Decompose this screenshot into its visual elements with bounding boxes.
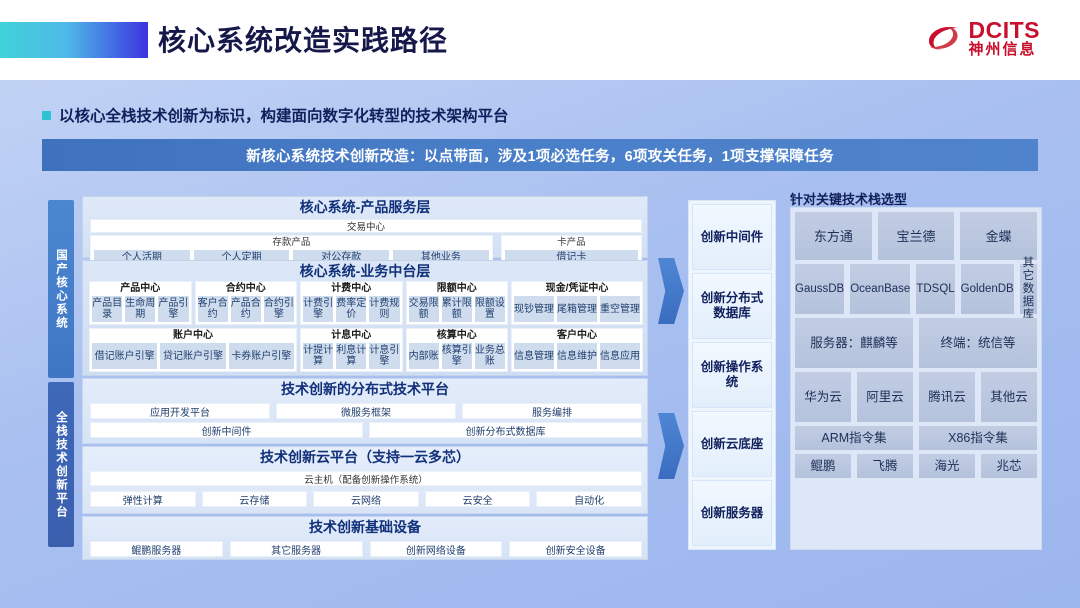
center-title: 计费中心 <box>303 283 400 295</box>
center-item[interactable]: 借记账户引擎 <box>92 343 157 369</box>
center-item[interactable]: 限额设置 <box>475 296 505 322</box>
summary-banner: 新核心系统技术创新改造：以点带面，涉及1项必选任务，6项攻关任务，1项支撑保障任… <box>42 139 1038 171</box>
tech-stack-selection-panel: 东方通 宝兰德 金蝶 GaussDB OceanBase TDSQL Golde… <box>790 207 1042 550</box>
bullet-square-icon <box>42 111 51 120</box>
vertical-label-fullstack-platform: 全栈技术创新平台 <box>48 382 74 547</box>
distributed-tech-platform-title: 技术创新的分布式技术平台 <box>83 379 647 399</box>
center-item[interactable]: 客户合约 <box>198 296 228 322</box>
distributed-tech-platform: 技术创新的分布式技术平台 应用开发平台 微服务框架 服务编排 创新中间件 创新分… <box>82 378 648 444</box>
tech-band-database: GaussDB OceanBase TDSQL GoldenDB 其它数据库 <box>795 264 1037 314</box>
vendor-cell[interactable]: OceanBase <box>850 264 910 314</box>
cloud-item[interactable]: 弹性计算 <box>90 491 196 507</box>
innovation-item-distributed-database[interactable]: 创新分布式数据库 <box>692 273 772 339</box>
page-header: 核心系统改造实践路径 DCITS 神州信息 <box>0 0 1080 80</box>
center-item[interactable]: 信息维护 <box>557 343 597 369</box>
cloud-item[interactable]: 云网络 <box>313 491 419 507</box>
infrastructure-title: 技术创新基础设备 <box>83 517 647 537</box>
vendor-cell[interactable]: 华为云 <box>795 372 851 422</box>
center-card-accounting: 核算中心 内部账 核算引擎 业务总账 <box>406 328 509 372</box>
center-item[interactable]: 产品引擎 <box>158 296 188 322</box>
vendor-cell[interactable]: 东方通 <box>795 212 872 260</box>
vendor-cell[interactable]: GoldenDB <box>961 264 1014 314</box>
center-card-billing: 计费中心 计费引擎 费率定价 计费规则 <box>300 281 403 325</box>
cloud-item[interactable]: 云存储 <box>202 491 308 507</box>
vendor-cell[interactable]: 宝兰德 <box>878 212 955 260</box>
center-title: 客户中心 <box>514 330 640 342</box>
architecture-left-panel: 国产核心系统 全栈技术创新平台 核心系统-产品服务层 交易中心 存款产品 个人活… <box>48 196 648 551</box>
tech-band-cloud: 华为云 阿里云 腾讯云 其他云 <box>795 372 1037 422</box>
infra-item[interactable]: 创新网络设备 <box>370 541 503 557</box>
dtp-item[interactable]: 应用开发平台 <box>90 403 270 419</box>
center-item[interactable]: 现钞管理 <box>514 296 554 322</box>
tech-band-instruction-set: ARM指令集 X86指令集 <box>795 426 1037 450</box>
center-item[interactable]: 生命周期 <box>125 296 155 322</box>
center-card-customer: 客户中心 信息管理 信息维护 信息应用 <box>511 328 643 372</box>
arrow-right-icon <box>658 258 684 324</box>
center-item[interactable]: 计费引擎 <box>303 296 333 322</box>
center-card-limit: 限额中心 交易限额 累计限额 限额设置 <box>406 281 509 325</box>
infra-item[interactable]: 创新安全设备 <box>509 541 642 557</box>
vendor-cell[interactable]: 终端：统信等 <box>919 318 1037 368</box>
cloud-host-label: 云主机（配备创新操作系统） <box>90 471 642 486</box>
chip-cell[interactable]: 海光 <box>919 454 975 478</box>
business-mid-platform-title: 核心系统-业务中台层 <box>83 261 647 281</box>
vendor-cell[interactable]: 其他云 <box>981 372 1037 422</box>
header-accent-bar <box>0 22 148 58</box>
chip-cell[interactable]: 鲲鹏 <box>795 454 851 478</box>
center-item[interactable]: 产品合约 <box>231 296 261 322</box>
center-title: 限额中心 <box>409 283 506 295</box>
center-card-cash-voucher: 现金/凭证中心 现钞管理 尾箱管理 重空管理 <box>511 281 643 325</box>
vendor-cell[interactable]: 其它数据库 <box>1020 264 1037 314</box>
center-title: 核算中心 <box>409 330 506 342</box>
tech-band-middleware: 东方通 宝兰德 金蝶 <box>795 212 1037 260</box>
center-item[interactable]: 累计限额 <box>442 296 472 322</box>
logo-text-cn: 神州信息 <box>969 42 1041 58</box>
dtp-item[interactable]: 创新分布式数据库 <box>369 422 642 438</box>
cloud-item[interactable]: 自动化 <box>536 491 642 507</box>
cloud-item[interactable]: 云安全 <box>425 491 531 507</box>
vendor-cell[interactable]: 服务器：麒麟等 <box>795 318 913 368</box>
transaction-center-label: 交易中心 <box>90 219 642 233</box>
center-item[interactable]: 信息管理 <box>514 343 554 369</box>
vendor-cell[interactable]: 阿里云 <box>857 372 913 422</box>
vendor-cell[interactable]: GaussDB <box>795 264 844 314</box>
instruction-set-cell[interactable]: X86指令集 <box>919 426 1037 450</box>
center-item[interactable]: 计提计算 <box>303 343 333 369</box>
summary-banner-text: 新核心系统技术创新改造：以点带面，涉及1项必选任务，6项攻关任务，1项支撑保障任… <box>246 145 834 166</box>
tech-band-os: 服务器：麒麟等 终端：统信等 <box>795 318 1037 368</box>
chip-cell[interactable]: 飞腾 <box>857 454 913 478</box>
tech-stack-selection-title: 针对关键技术栈选型 <box>790 189 907 208</box>
center-item[interactable]: 计费规则 <box>369 296 399 322</box>
product-service-layer-title: 核心系统-产品服务层 <box>83 197 647 217</box>
infrastructure-layer: 技术创新基础设备 鲲鹏服务器 其它服务器 创新网络设备 创新安全设备 <box>82 516 648 560</box>
center-item[interactable]: 贷记账户引擎 <box>160 343 225 369</box>
center-item[interactable]: 内部账 <box>409 343 439 369</box>
center-item[interactable]: 费率定价 <box>336 296 366 322</box>
page-title: 核心系统改造实践路径 <box>158 19 448 59</box>
center-item[interactable]: 卡券账户引擎 <box>229 343 294 369</box>
innovation-item-middleware[interactable]: 创新中间件 <box>692 204 772 270</box>
card-product-label: 卡产品 <box>505 237 638 249</box>
innovation-item-server[interactable]: 创新服务器 <box>692 480 772 546</box>
center-title: 产品中心 <box>92 283 189 295</box>
center-title: 计息中心 <box>303 330 400 342</box>
cloud-platform-title: 技术创新云平台（支持一云多芯） <box>83 447 647 467</box>
vendor-cell[interactable]: 腾讯云 <box>919 372 975 422</box>
dtp-item[interactable]: 服务编排 <box>462 403 642 419</box>
vendor-cell[interactable]: TDSQL <box>916 264 954 314</box>
center-title: 现金/凭证中心 <box>514 283 640 295</box>
product-service-layer: 核心系统-产品服务层 交易中心 存款产品 个人活期 个人定期 对公存款 其他业务… <box>82 196 648 258</box>
dcits-logo-mark <box>924 19 962 57</box>
headline-text: 以核心全栈技术创新为标识，构建面向数字化转型的技术架构平台 <box>59 104 509 126</box>
center-item[interactable]: 利息计算 <box>336 343 366 369</box>
vertical-label-core-system: 国产核心系统 <box>48 200 74 378</box>
center-item[interactable]: 核算引擎 <box>442 343 472 369</box>
center-item[interactable]: 业务总账 <box>475 343 505 369</box>
vendor-cell[interactable]: 金蝶 <box>960 212 1037 260</box>
infra-item[interactable]: 鲲鹏服务器 <box>90 541 223 557</box>
dtp-item[interactable]: 创新中间件 <box>90 422 363 438</box>
center-item[interactable]: 尾箱管理 <box>557 296 597 322</box>
center-item[interactable]: 重空管理 <box>600 296 640 322</box>
center-item[interactable]: 交易限额 <box>409 296 439 322</box>
deposit-product-label: 存款产品 <box>94 237 489 249</box>
arrow-right-icon <box>658 413 684 479</box>
innovation-task-column: 创新中间件 创新分布式数据库 创新操作系统 创新云底座 创新服务器 <box>688 200 776 550</box>
innovation-item-operating-system[interactable]: 创新操作系统 <box>692 342 772 408</box>
headline-bullet: 以核心全栈技术创新为标识，构建面向数字化转型的技术架构平台 <box>42 104 509 126</box>
cloud-platform: 技术创新云平台（支持一云多芯） 云主机（配备创新操作系统） 弹性计算 云存储 云… <box>82 446 648 514</box>
center-item[interactable]: 产品目录 <box>92 296 122 322</box>
innovation-item-cloud-base[interactable]: 创新云底座 <box>692 411 772 477</box>
center-title: 合约中心 <box>198 283 295 295</box>
center-card-contract: 合约中心 客户合约 产品合约 合约引擎 <box>195 281 298 325</box>
chip-cell[interactable]: 兆芯 <box>981 454 1037 478</box>
tech-band-chips: 鲲鹏 飞腾 海光 兆芯 <box>795 454 1037 478</box>
center-title: 账户中心 <box>92 330 294 342</box>
center-item[interactable]: 信息应用 <box>600 343 640 369</box>
center-card-account: 账户中心 借记账户引擎 贷记账户引擎 卡券账户引擎 <box>89 328 297 372</box>
center-item[interactable]: 计息引擎 <box>369 343 399 369</box>
logo-text-en: DCITS <box>969 18 1041 42</box>
instruction-set-cell[interactable]: ARM指令集 <box>795 426 913 450</box>
business-mid-platform-layer: 核心系统-业务中台层 产品中心 产品目录 生命周期 产品引擎 合约中心 客户合约… <box>82 260 648 376</box>
dcits-logo: DCITS 神州信息 <box>924 18 1041 58</box>
infra-item[interactable]: 其它服务器 <box>230 541 363 557</box>
center-card-product: 产品中心 产品目录 生命周期 产品引擎 <box>89 281 192 325</box>
dtp-item[interactable]: 微服务框架 <box>276 403 456 419</box>
center-card-interest: 计息中心 计提计算 利息计算 计息引擎 <box>300 328 403 372</box>
center-item[interactable]: 合约引擎 <box>264 296 294 322</box>
